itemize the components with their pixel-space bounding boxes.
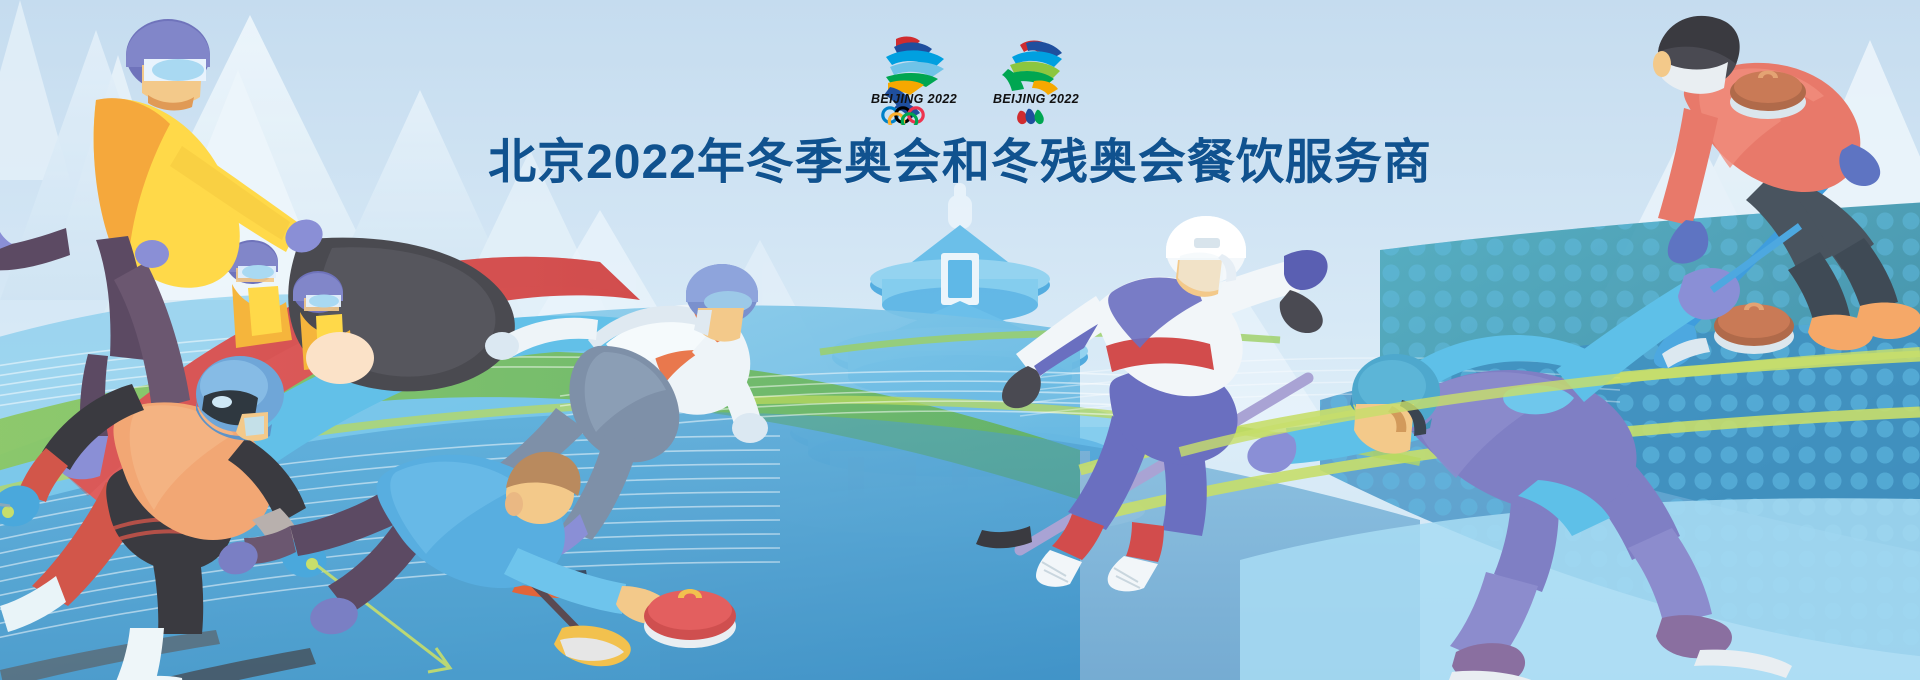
athlete-ice-hockey-player <box>976 216 1328 591</box>
winter-paralympics-fei-emblem <box>1002 41 1062 96</box>
paralympic-wordmark: BEIJING 2022 <box>993 92 1079 106</box>
curling-stone-right <box>1730 71 1806 120</box>
beijing-2022-olympic-logo: BEIJING 2022 <box>860 25 968 125</box>
olympic-banner: BEIJING 2022 <box>0 0 1920 680</box>
beijing-2022-paralympic-logo: BEIJING 2022 <box>982 25 1090 125</box>
page-title: 北京2022年冬季奥会和冬残奥会餐饮服务商 <box>0 122 1920 192</box>
athlete-speed-skater-purple <box>1247 226 1800 680</box>
olympic-wordmark: BEIJING 2022 <box>871 92 957 106</box>
logo-row: BEIJING 2022 <box>860 25 1090 125</box>
